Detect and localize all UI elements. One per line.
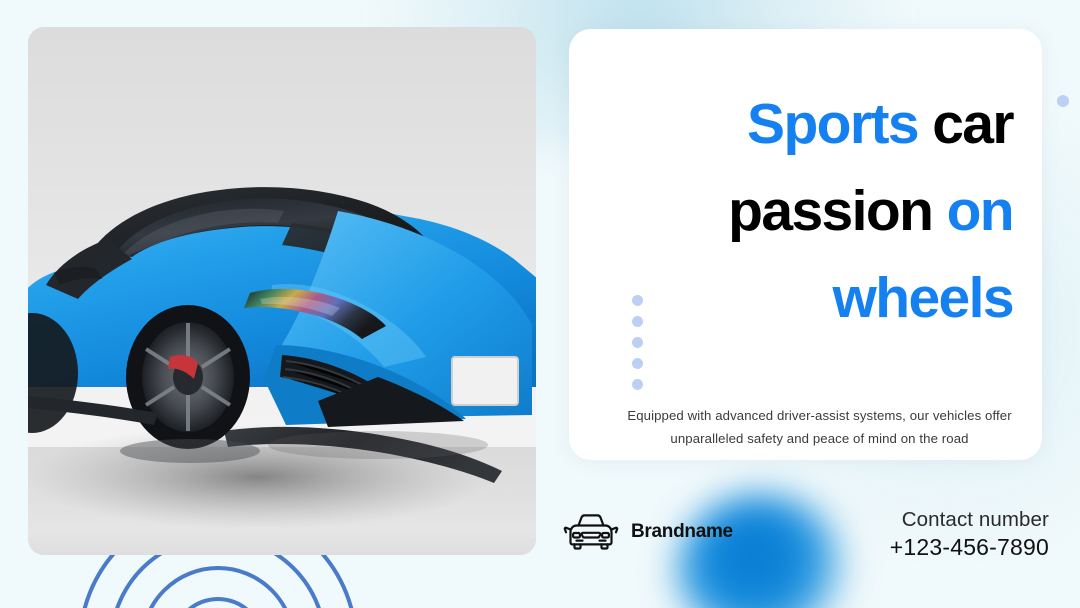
headline-word-passion: passion	[728, 179, 946, 243]
decorative-dot	[632, 316, 643, 327]
decorative-dot	[632, 379, 643, 390]
car-photo-card	[28, 27, 536, 555]
decorative-dot	[632, 337, 643, 348]
headline-word-sports: Sports	[747, 92, 918, 156]
headline-word-wheels: wheels	[833, 266, 1014, 330]
car-photo-image	[28, 27, 536, 555]
brand-name-label: Brandname	[631, 521, 733, 543]
brand-lockup[interactable]: Brandname	[562, 512, 733, 552]
poster-canvas: Sports car passion on wheels Equipped wi…	[0, 0, 1080, 608]
contact-number[interactable]: +123-456-7890	[890, 533, 1049, 562]
headline-word-on: on	[947, 179, 1013, 243]
contact-label: Contact number	[890, 506, 1049, 533]
page-title: Sports car passion on wheels	[613, 81, 1013, 343]
content-card: Sports car passion on wheels Equipped wi…	[569, 29, 1042, 460]
body-paragraph: Equipped with advanced driver-assist sys…	[625, 405, 1014, 450]
dot-column-decoration	[632, 295, 643, 390]
decorative-dot	[632, 358, 643, 369]
accent-dot-decoration	[1057, 95, 1069, 107]
car-front-icon	[562, 512, 620, 552]
decorative-dot	[632, 295, 643, 306]
contact-block[interactable]: Contact number +123-456-7890	[890, 506, 1049, 562]
headline-word-car: car	[918, 92, 1013, 156]
